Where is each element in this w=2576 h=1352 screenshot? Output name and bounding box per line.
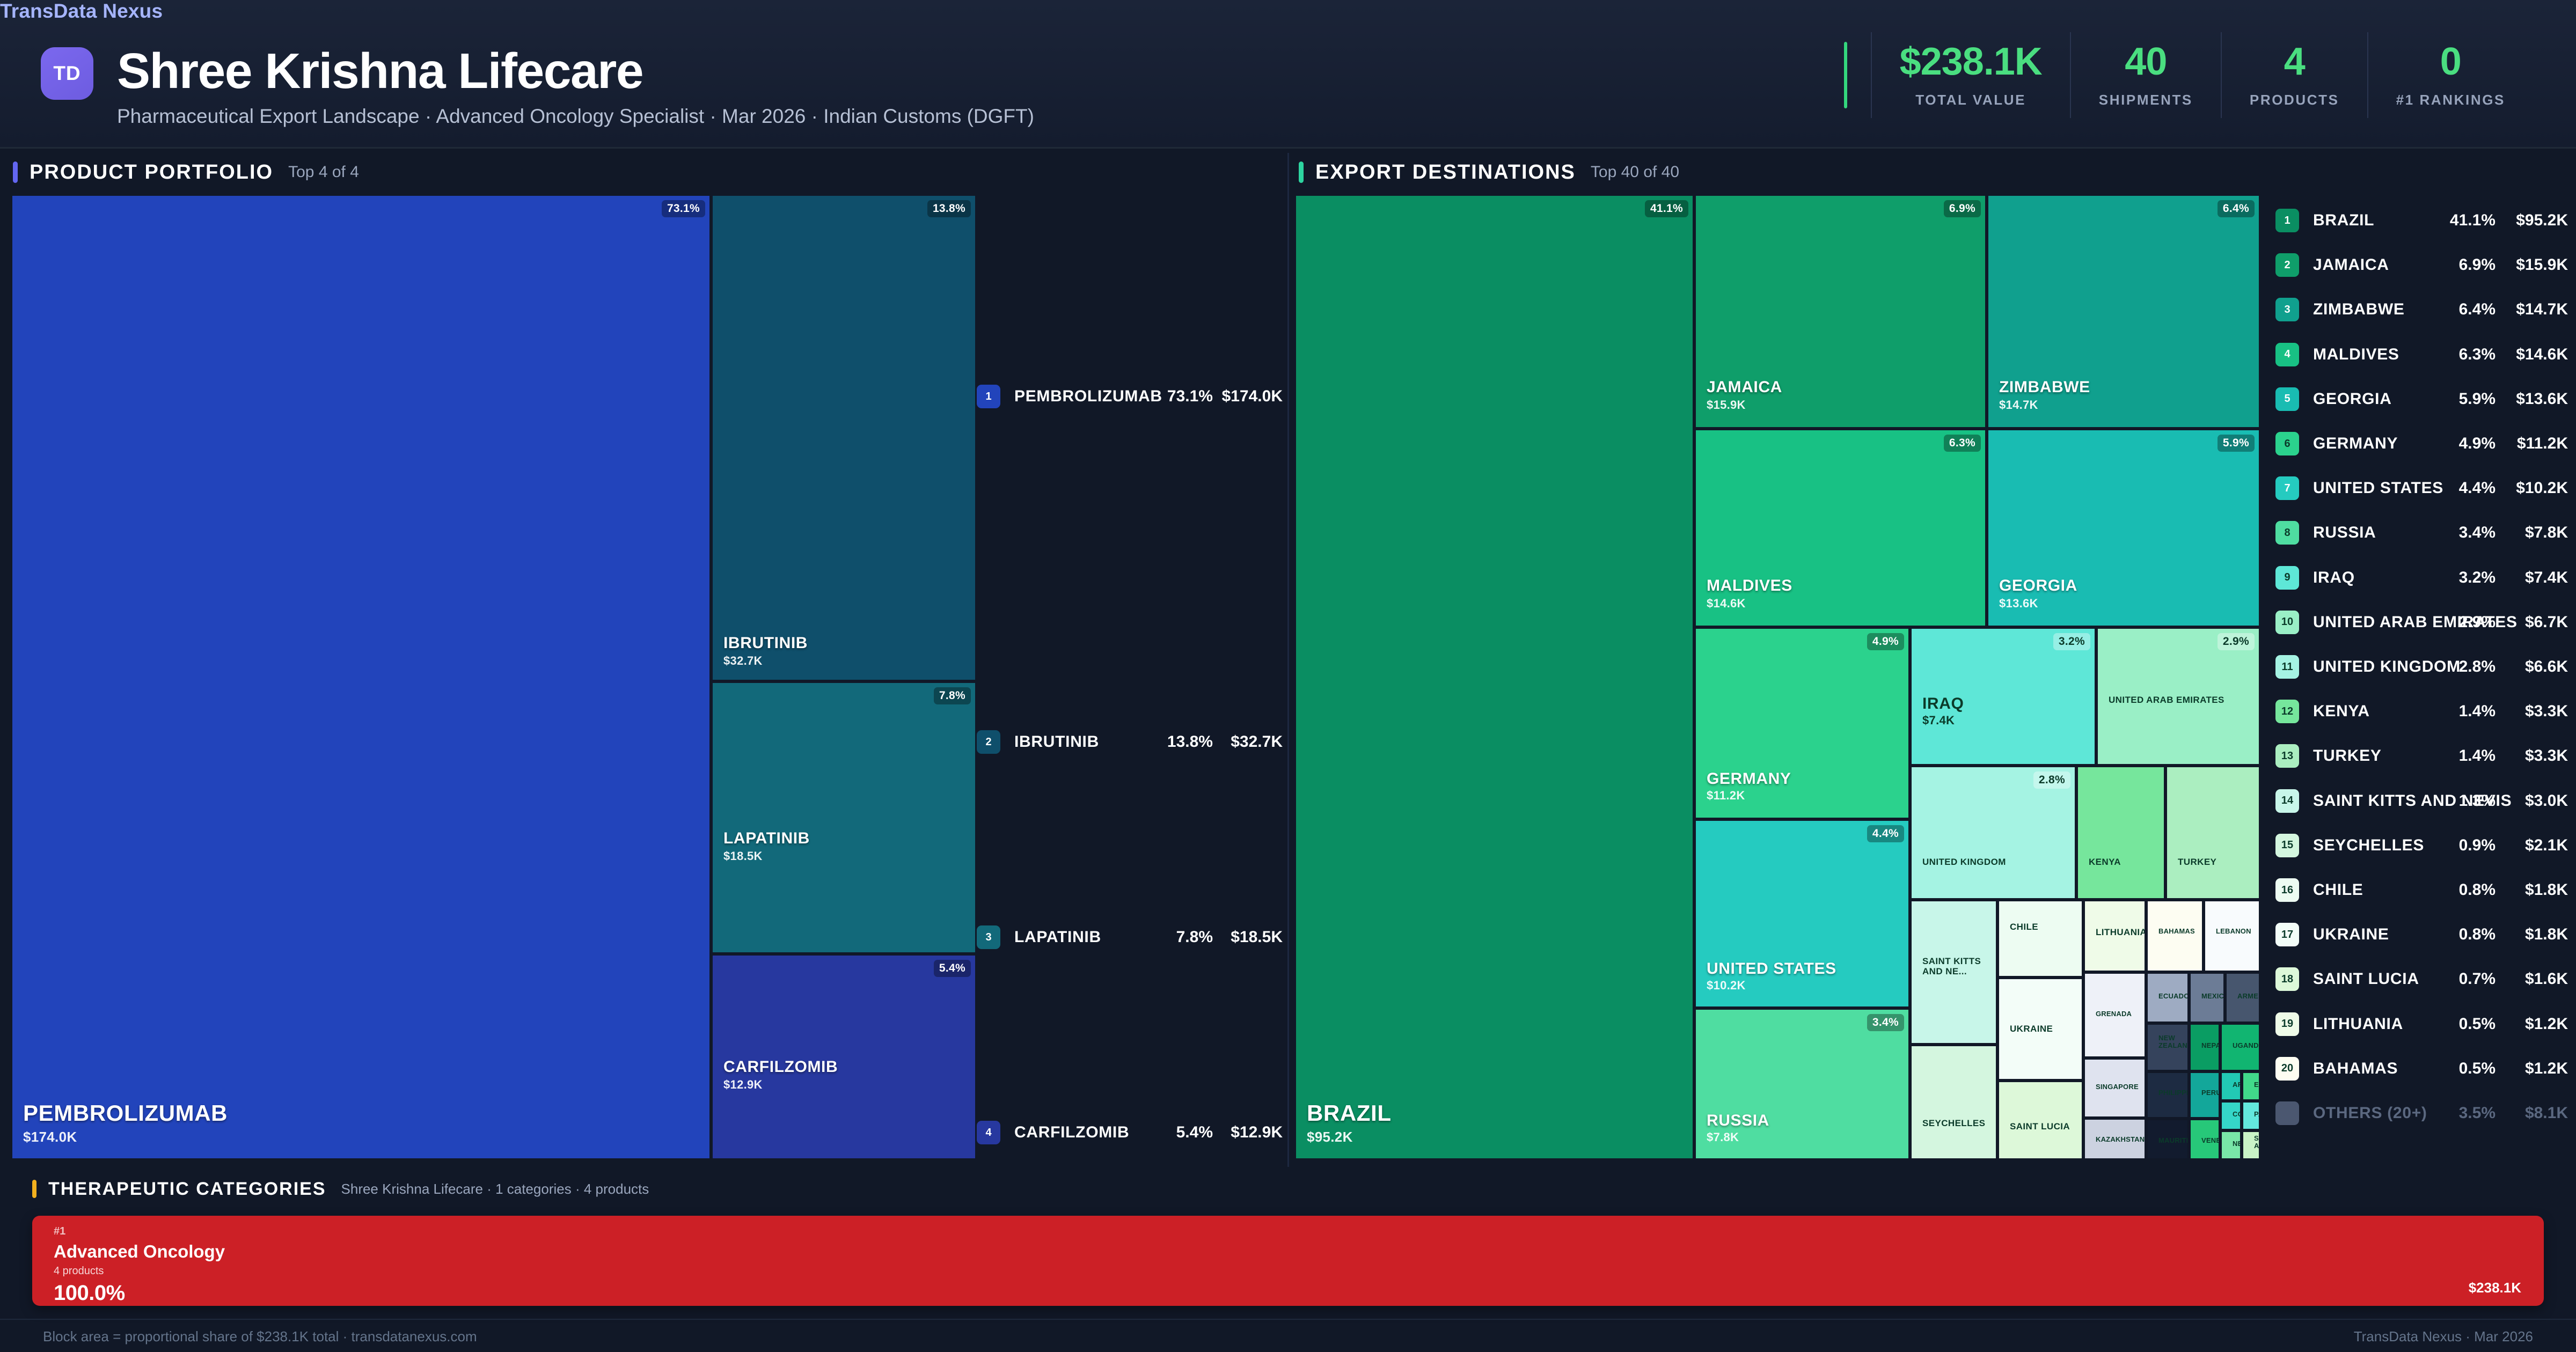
rank-percent: 4.4% xyxy=(2436,479,2495,497)
treemap-cell-pakistan[interactable]: PAKIS xyxy=(2242,1101,2260,1130)
cell-percent: 13.8% xyxy=(927,200,971,217)
rank-name: CHILE xyxy=(2313,881,2363,899)
cell-name: UNITED ARAB EMIRATES xyxy=(2109,695,2224,705)
rank-value: $14.6K xyxy=(2498,346,2568,364)
rank-badge: 16 xyxy=(2275,878,2299,902)
rank-badge: 4 xyxy=(2275,343,2299,366)
rank-row-destination[interactable]: 12KENYA1.4%$3.3K xyxy=(2275,700,2568,723)
rank-percent: 2.9% xyxy=(2436,613,2495,631)
cell-percent: 73.1% xyxy=(662,200,705,217)
rank-row-destination[interactable]: 8RUSSIA3.4%$7.8K xyxy=(2275,521,2568,545)
cell-name: LAPATINIB xyxy=(723,830,810,847)
treemap-cell-zimbabwe[interactable]: 6.4% ZIMBABWE $14.7K xyxy=(1987,194,2260,429)
rank-value: $6.6K xyxy=(2498,658,2568,676)
rank-value: $10.2K xyxy=(2498,479,2568,497)
rank-badge: 13 xyxy=(2275,744,2299,768)
cell-value: $95.2K xyxy=(1307,1129,1353,1145)
rank-row-others[interactable]: OTHERS (20+)3.5%$8.1K xyxy=(2275,1101,2568,1125)
category-rank: #1 xyxy=(54,1225,65,1238)
cell-name: KAZAKHSTAN xyxy=(2096,1136,2145,1143)
section-title: THERAPEUTIC CATEGORIES xyxy=(48,1179,326,1200)
rank-badge: 9 xyxy=(2275,566,2299,590)
cell-name: NEPAL xyxy=(2201,1042,2220,1049)
rank-percent: 3.5% xyxy=(2436,1104,2495,1122)
section-subtitle: Top 4 of 4 xyxy=(288,163,359,181)
header-stats: $238.1K TOTAL VALUE 40 SHIPMENTS 4 PRODU… xyxy=(1844,32,2533,118)
accent-bar xyxy=(32,1180,36,1198)
treemap-cell-turkey[interactable]: TURKEY xyxy=(2165,766,2260,900)
stat-label: TOTAL VALUE xyxy=(1915,92,2026,108)
cell-percent: 6.9% xyxy=(1944,200,1981,217)
rank-name: SAINT LUCIA xyxy=(2313,970,2419,988)
rank-row-destination[interactable]: 13TURKEY1.4%$3.3K xyxy=(2275,744,2568,768)
category-product-count: 4 products xyxy=(54,1265,104,1277)
cell-name: JAMAICA xyxy=(1707,379,1782,396)
therapeutic-categories-header: THERAPEUTIC CATEGORIES Shree Krishna Lif… xyxy=(32,1175,649,1203)
cell-name: SAINT KITTS AND NE... xyxy=(1922,957,1997,976)
rank-row-destination[interactable]: 18SAINT LUCIA0.7%$1.6K xyxy=(2275,967,2568,991)
cell-percent: 6.3% xyxy=(1944,435,1981,452)
stat-value: 4 xyxy=(2284,42,2305,81)
rank-value: $7.4K xyxy=(2498,569,2568,587)
cell-name: UNITED KINGDOM xyxy=(1922,857,2006,867)
rank-badge: 6 xyxy=(2275,432,2299,455)
rank-row-destination[interactable]: 11UNITED KINGDOM2.8%$6.6K xyxy=(2275,655,2568,679)
rank-value: $1.2K xyxy=(2498,1060,2568,1078)
cell-name: SEYCHELLES xyxy=(1922,1119,1985,1128)
cell-percent: 4.9% xyxy=(1867,633,1904,650)
cell-name: PEMBROLIZUMAB xyxy=(23,1101,228,1125)
rank-value: $1.2K xyxy=(2498,1015,2568,1033)
cell-name: LEBANON xyxy=(2216,928,2251,935)
rank-percent: 0.8% xyxy=(2436,925,2495,944)
cell-value: $15.9K xyxy=(1707,398,1746,412)
footer-divider xyxy=(0,1319,2576,1320)
rank-name: ZIMBABWE xyxy=(2313,300,2405,319)
rank-value: $3.0K xyxy=(2498,792,2568,810)
cell-name: IBRUTINIB xyxy=(723,635,808,652)
treemap-cell-kenya[interactable]: KENYA xyxy=(2076,766,2165,900)
rank-name: TURKEY xyxy=(2313,747,2382,765)
rank-percent: 0.9% xyxy=(2436,836,2495,855)
rank-percent: 1.4% xyxy=(2436,702,2495,721)
treemap-cell-united-arab-emirates[interactable]: 2.9% UNITED ARAB EMIRATES xyxy=(2096,627,2260,766)
cell-name: ECUADOR xyxy=(2158,993,2189,1000)
cell-name: PERU xyxy=(2201,1089,2220,1097)
treemap-cell-ukraine[interactable]: UKRAINE xyxy=(1997,978,2083,1081)
rank-name: LAPATINIB xyxy=(1014,928,1101,946)
rank-badge: 2 xyxy=(977,730,1000,754)
cell-percent: 7.8% xyxy=(934,687,971,704)
rank-percent: 3.4% xyxy=(2436,524,2495,542)
rank-badge: 14 xyxy=(2275,789,2299,813)
treemap-cell-congo[interactable]: CONGO xyxy=(2220,1101,2242,1130)
section-title: EXPORT DESTINATIONS xyxy=(1315,161,1576,184)
cell-value: $12.9K xyxy=(723,1078,763,1092)
destination-rank-list: 1BRAZIL41.1%$95.2K2JAMAICA6.9%$15.9K3ZIM… xyxy=(2275,194,2568,1160)
rank-value: $2.1K xyxy=(2498,836,2568,855)
rank-row-destination[interactable]: 16CHILE0.8%$1.8K xyxy=(2275,878,2568,902)
rank-percent: 0.5% xyxy=(2436,1060,2495,1078)
cell-name: ARMENIA xyxy=(2237,993,2260,1000)
treemap-cell-lebanon[interactable]: LEBANON xyxy=(2204,900,2260,972)
cell-name: KENYA xyxy=(2089,857,2121,867)
cell-name: GEORGIA xyxy=(1999,577,2077,594)
rank-badge xyxy=(2275,1101,2299,1125)
cell-name: PHILIPPINES xyxy=(2158,1089,2189,1097)
rank-percent: 41.1% xyxy=(2436,211,2495,230)
rank-name: KENYA xyxy=(2313,702,2370,721)
treemap-cell-philippines[interactable]: PHILIPPINES xyxy=(2146,1071,2189,1119)
rank-badge: 20 xyxy=(2275,1057,2299,1081)
section-subtitle: Top 40 of 40 xyxy=(1591,163,1679,181)
rank-percent: 7.8% xyxy=(1154,928,1213,946)
treemap-cell-saint-kitts-and-nevis[interactable]: SAINT KITTS AND NE... xyxy=(1910,900,1997,1045)
cell-name: NEW ZEALAND xyxy=(2158,1034,2189,1049)
cell-name: MALDIVES xyxy=(1707,577,1792,594)
rank-value: $13.6K xyxy=(2498,390,2568,408)
treemap-cell-georgia[interactable]: 5.9% GEORGIA $13.6K xyxy=(1987,429,2260,627)
cell-value: $7.4K xyxy=(1922,714,1955,728)
rank-row-destination[interactable]: 4MALDIVES6.3%$14.6K xyxy=(2275,343,2568,366)
stat-value: 0 xyxy=(2440,42,2461,81)
rank-badge: 17 xyxy=(2275,923,2299,946)
treemap-cell-united-states[interactable]: 4.4% UNITED STATES $10.2K xyxy=(1694,819,1910,1008)
section-title: PRODUCT PORTFOLIO xyxy=(30,161,273,184)
rank-row-product[interactable]: 1 PEMBROLIZUMAB 73.1% $174.0K xyxy=(977,385,1277,408)
cell-name: EGYPT xyxy=(2254,1081,2260,1089)
rank-name: JAMAICA xyxy=(2313,256,2389,274)
rank-percent: 5.4% xyxy=(1154,1123,1213,1142)
cell-name: IRAQ xyxy=(1922,695,1964,712)
cell-value: $11.2K xyxy=(1707,789,1745,803)
cell-name: UNITED STATES xyxy=(1707,960,1836,978)
cell-name: GRENADA xyxy=(2096,1010,2132,1018)
page-title: Shree Krishna Lifecare xyxy=(117,45,643,98)
rank-row-destination[interactable]: 10UNITED ARAB EMIRATES2.9%$6.7K xyxy=(2275,611,2568,634)
rank-percent: 0.7% xyxy=(2436,970,2495,988)
cell-name: BAHAMAS xyxy=(2158,928,2195,935)
cell-name: MEXICO xyxy=(2201,993,2225,1000)
treemap-cell-lithuania[interactable]: LITHUANIA xyxy=(2083,900,2146,972)
cell-name: CHILE xyxy=(2010,922,2038,932)
stat-products: 4 PRODUCTS xyxy=(2221,32,2367,118)
cell-percent: 5.9% xyxy=(2218,435,2255,452)
category-value: $238.1K xyxy=(2469,1280,2521,1296)
page-header: TransData Nexus TD Shree Krishna Lifecar… xyxy=(0,0,2576,149)
treemap-cell-grenada[interactable]: GRENADA xyxy=(2083,972,2146,1058)
cell-percent: 3.4% xyxy=(1867,1014,1904,1031)
product-rank-list: 1 PEMBROLIZUMAB 73.1% $174.0K 2 IBRUTINI… xyxy=(977,194,1277,1160)
rank-percent: 1.4% xyxy=(2436,747,2495,765)
rank-row-destination[interactable]: 20BAHAMAS0.5%$1.2K xyxy=(2275,1057,2568,1081)
treemap-cell-kazakhstan[interactable]: KAZAKHSTAN xyxy=(2083,1118,2146,1160)
cell-name: BRAZIL xyxy=(1307,1101,1392,1125)
rank-badge: 4 xyxy=(977,1121,1000,1144)
rank-row-destination[interactable]: 3ZIMBABWE6.4%$14.7K xyxy=(2275,298,2568,321)
rank-row-destination[interactable]: 15SEYCHELLES0.9%$2.1K xyxy=(2275,834,2568,857)
treemap-cell-peru[interactable]: PERU xyxy=(2189,1071,2220,1119)
stat-value: $238.1K xyxy=(1900,42,2042,81)
rank-row-destination[interactable]: 2JAMAICA6.9%$15.9K xyxy=(2275,253,2568,277)
treemap-cell-russia[interactable]: 3.4% RUSSIA $7.8K xyxy=(1694,1008,1910,1160)
cell-percent: 5.4% xyxy=(934,960,971,977)
treemap-cell-seychelles[interactable]: SEYCHELLES xyxy=(1910,1045,1997,1160)
accent-bar xyxy=(13,161,18,183)
rank-percent: 6.3% xyxy=(2436,346,2495,364)
rank-name: IRAQ xyxy=(2313,569,2355,587)
cell-name: MAURITIUS xyxy=(2158,1137,2189,1144)
destinations-treemap: 41.1% BRAZIL $95.2K 6.9% JAMAICA $15.9K … xyxy=(1294,194,2260,1160)
treemap-cell-saint-lucia[interactable]: SAINT LUCIA xyxy=(1997,1081,2083,1160)
rank-value: $3.3K xyxy=(2498,702,2568,721)
cell-percent: 2.8% xyxy=(2033,771,2070,789)
cell-percent: 6.4% xyxy=(2218,200,2255,217)
rank-value: $1.8K xyxy=(2498,881,2568,899)
rank-badge: 8 xyxy=(2275,521,2299,545)
rank-row-destination[interactable]: 5GEORGIA5.9%$13.6K xyxy=(2275,387,2568,411)
rank-percent: 0.8% xyxy=(2436,881,2495,899)
treemap-cell-lapatinib[interactable]: 7.8% LAPATINIB $18.5K xyxy=(711,681,977,954)
rank-percent: 0.5% xyxy=(2436,1015,2495,1033)
cell-percent: 3.2% xyxy=(2053,633,2090,650)
rank-percent: 73.1% xyxy=(1154,387,1213,406)
cell-name: NETHERL xyxy=(2233,1140,2242,1148)
treemap-cell-united-kingdom[interactable]: 2.8% UNITED KINGDOM xyxy=(1910,766,2076,900)
rank-value: $11.2K xyxy=(2498,435,2568,453)
rank-value: $6.7K xyxy=(2498,613,2568,631)
cell-value: $14.7K xyxy=(1999,398,2038,412)
cell-value: $18.5K xyxy=(723,849,763,863)
stat-shipments: 40 SHIPMENTS xyxy=(2070,32,2221,118)
panel-divider xyxy=(1287,153,1289,1167)
therapeutic-category-bar[interactable]: #1 Advanced Oncology 4 products 100.0% $… xyxy=(32,1216,2544,1306)
treemap-cell-maldives[interactable]: 6.3% MALDIVES $14.6K xyxy=(1694,429,1987,627)
cell-name: VENEZUE xyxy=(2201,1137,2220,1144)
rank-badge: 19 xyxy=(2275,1012,2299,1036)
treemap-cell-bahamas[interactable]: BAHAMAS xyxy=(2146,900,2204,972)
stat-number-one-rankings: 0 #1 RANKINGS xyxy=(2367,32,2533,118)
treemap-cell-nepal[interactable]: NEPAL xyxy=(2189,1023,2220,1071)
rank-name: SEYCHELLES xyxy=(2313,836,2424,855)
cell-name: UGANDA xyxy=(2233,1042,2260,1049)
treemap-cell-netherlands[interactable]: NETHERL xyxy=(2220,1130,2242,1160)
rank-value: $32.7K xyxy=(1213,733,1283,751)
cell-name: CONGO xyxy=(2233,1111,2242,1118)
rank-row-destination[interactable]: 1BRAZIL41.1%$95.2K xyxy=(2275,209,2568,232)
treemap-cell-jamaica[interactable]: 6.9% JAMAICA $15.9K xyxy=(1694,194,1987,429)
cell-name: SOUTH A... xyxy=(2254,1135,2260,1150)
rank-badge: 15 xyxy=(2275,834,2299,857)
rank-value: $3.3K xyxy=(2498,747,2568,765)
treemap-cell-iraq[interactable]: 3.2% IRAQ $7.4K xyxy=(1910,627,2096,766)
treemap-cell-pembrolizumab[interactable]: 73.1% PEMBROLIZUMAB $174.0K xyxy=(11,194,711,1160)
treemap-cell-venezuela[interactable]: VENEZUE xyxy=(2189,1119,2220,1160)
treemap-cell-ibrutinib[interactable]: 13.8% IBRUTINIB $32.7K xyxy=(711,194,977,681)
cell-value: $32.7K xyxy=(723,654,763,668)
rank-name: OTHERS (20+) xyxy=(2313,1104,2427,1122)
treemap-cell-armenia[interactable]: ARMENIA xyxy=(2225,972,2260,1023)
rank-row-product[interactable]: 4 CARFILZOMIB 5.4% $12.9K xyxy=(977,1121,1277,1144)
stats-accent-bar xyxy=(1844,42,1847,108)
product-treemap: 73.1% PEMBROLIZUMAB $174.0K 13.8% IBRUTI… xyxy=(11,194,977,1160)
rank-row-product[interactable]: 3 LAPATINIB 7.8% $18.5K xyxy=(977,925,1277,949)
rank-badge: 3 xyxy=(2275,298,2299,321)
cell-value: $13.6K xyxy=(1999,597,2038,611)
rank-percent: 2.8% xyxy=(2436,658,2495,676)
cell-name: SAINT LUCIA xyxy=(2010,1122,2070,1131)
rank-badge: 3 xyxy=(977,925,1000,949)
stat-label: SHIPMENTS xyxy=(2099,92,2193,108)
treemap-cell-south-africa[interactable]: SOUTH A... xyxy=(2242,1130,2260,1160)
rank-badge: 1 xyxy=(2275,209,2299,232)
rank-percent: 5.9% xyxy=(2436,390,2495,408)
rank-name: GERMANY xyxy=(2313,435,2398,453)
product-portfolio-header: PRODUCT PORTFOLIO Top 4 of 4 xyxy=(13,158,359,186)
rank-name: PEMBROLIZUMAB xyxy=(1014,387,1162,406)
cell-name: SINGAPORE xyxy=(2096,1083,2139,1091)
cell-value: $10.2K xyxy=(1707,979,1746,993)
cell-value: $14.6K xyxy=(1707,597,1746,611)
treemap-cell-new-zealand[interactable]: NEW ZEALAND xyxy=(2146,1023,2189,1071)
brand-eyebrow: TransData Nexus xyxy=(0,0,2576,23)
treemap-cell-afghanistan[interactable]: AFGHAN xyxy=(2220,1071,2242,1101)
rank-percent: 6.4% xyxy=(2436,300,2495,319)
section-subtitle: Shree Krishna Lifecare · 1 categories · … xyxy=(341,1181,649,1197)
export-destinations-header: EXPORT DESTINATIONS Top 40 of 40 xyxy=(1299,158,1679,186)
rank-value: $7.8K xyxy=(2498,524,2568,542)
treemap-cell-ecuador[interactable]: ECUADOR xyxy=(2146,972,2189,1023)
treemap-cell-carfilzomib[interactable]: 5.4% CARFILZOMIB $12.9K xyxy=(711,954,977,1160)
cell-name: TURKEY xyxy=(2178,857,2216,867)
stat-label: #1 RANKINGS xyxy=(2396,92,2505,108)
rank-badge: 12 xyxy=(2275,700,2299,723)
cell-percent: 41.1% xyxy=(1645,200,1688,217)
rank-badge: 7 xyxy=(2275,476,2299,500)
rank-percent: 1.3% xyxy=(2436,792,2495,810)
accent-bar xyxy=(1299,161,1304,183)
treemap-cell-uganda[interactable]: UGANDA xyxy=(2220,1023,2260,1071)
cell-name: PAKIS xyxy=(2254,1111,2260,1118)
rank-badge: 10 xyxy=(2275,611,2299,634)
treemap-cell-mauritius[interactable]: MAURITIUS xyxy=(2146,1119,2189,1160)
rank-value: $15.9K xyxy=(2498,256,2568,274)
rank-value: $12.9K xyxy=(1213,1123,1283,1142)
category-percent: 100.0% xyxy=(54,1281,125,1305)
rank-value: $95.2K xyxy=(2498,211,2568,230)
rank-row-destination[interactable]: 6GERMANY4.9%$11.2K xyxy=(2275,432,2568,455)
cell-name: UKRAINE xyxy=(2010,1024,2053,1034)
rank-badge: 5 xyxy=(2275,387,2299,411)
footer-note: Block area = proportional share of $238.… xyxy=(43,1328,477,1345)
treemap-cell-brazil[interactable]: 41.1% BRAZIL $95.2K xyxy=(1294,194,1694,1160)
rank-name: UKRAINE xyxy=(2313,925,2389,944)
rank-row-destination[interactable]: 19LITHUANIA0.5%$1.2K xyxy=(2275,1012,2568,1036)
rank-value: $8.1K xyxy=(2498,1104,2568,1122)
rank-name: UNITED STATES xyxy=(2313,479,2443,497)
rank-badge: 11 xyxy=(2275,655,2299,679)
cell-name: RUSSIA xyxy=(1707,1112,1769,1129)
treemap-cell-egypt[interactable]: EGYPT xyxy=(2242,1071,2260,1101)
cell-name: ZIMBABWE xyxy=(1999,379,2090,396)
rank-row-product[interactable]: 2 IBRUTINIB 13.8% $32.7K xyxy=(977,730,1277,754)
cell-name: GERMANY xyxy=(1707,770,1791,788)
rank-value: $14.7K xyxy=(2498,300,2568,319)
treemap-cell-chile[interactable]: CHILE xyxy=(1997,900,2083,978)
rank-row-destination[interactable]: 9IRAQ3.2%$7.4K xyxy=(2275,566,2568,590)
rank-row-destination[interactable]: 14SAINT KITTS AND NEVIS1.3%$3.0K xyxy=(2275,789,2568,813)
rank-name: BAHAMAS xyxy=(2313,1060,2398,1078)
cell-name: AFGHAN xyxy=(2233,1081,2242,1089)
rank-badge: 1 xyxy=(977,385,1000,408)
rank-value: $174.0K xyxy=(1213,387,1283,406)
logo-badge: TD xyxy=(41,47,93,100)
cell-percent: 2.9% xyxy=(2218,633,2255,650)
rank-percent: 3.2% xyxy=(2436,569,2495,587)
page-subtitle: Pharmaceutical Export Landscape · Advanc… xyxy=(117,105,1034,128)
rank-percent: 6.9% xyxy=(2436,256,2495,274)
rank-name: RUSSIA xyxy=(2313,524,2376,542)
rank-badge: 18 xyxy=(2275,967,2299,991)
cell-value: $174.0K xyxy=(23,1129,77,1145)
rank-value: $1.8K xyxy=(2498,925,2568,944)
rank-name: CARFILZOMIB xyxy=(1014,1123,1129,1142)
rank-row-destination[interactable]: 17UKRAINE0.8%$1.8K xyxy=(2275,923,2568,946)
category-name: Advanced Oncology xyxy=(54,1241,225,1262)
rank-name: GEORGIA xyxy=(2313,390,2392,408)
rank-row-destination[interactable]: 7UNITED STATES4.4%$10.2K xyxy=(2275,476,2568,500)
rank-value: $18.5K xyxy=(1213,928,1283,946)
footer-attribution: TransData Nexus · Mar 2026 xyxy=(2354,1328,2533,1345)
stat-label: PRODUCTS xyxy=(2250,92,2339,108)
cell-percent: 4.4% xyxy=(1867,825,1904,842)
treemap-cell-singapore[interactable]: SINGAPORE xyxy=(2083,1058,2146,1118)
rank-name: LITHUANIA xyxy=(2313,1015,2403,1033)
rank-badge: 2 xyxy=(2275,253,2299,277)
rank-name: MALDIVES xyxy=(2313,346,2399,364)
treemap-cell-mexico[interactable]: MEXICO xyxy=(2189,972,2225,1023)
treemap-cell-germany[interactable]: 4.9% GERMANY $11.2K xyxy=(1694,627,1910,819)
rank-value: $1.6K xyxy=(2498,970,2568,988)
cell-name: CARFILZOMIB xyxy=(723,1059,838,1076)
cell-value: $7.8K xyxy=(1707,1130,1739,1144)
rank-name: IBRUTINIB xyxy=(1014,733,1099,751)
stat-value: 40 xyxy=(2125,42,2167,81)
rank-name: BRAZIL xyxy=(2313,211,2374,230)
rank-percent: 13.8% xyxy=(1154,733,1213,751)
rank-percent: 4.9% xyxy=(2436,435,2495,453)
stat-total-value: $238.1K TOTAL VALUE xyxy=(1871,32,2070,118)
cell-name: LITHUANIA xyxy=(2096,928,2146,937)
